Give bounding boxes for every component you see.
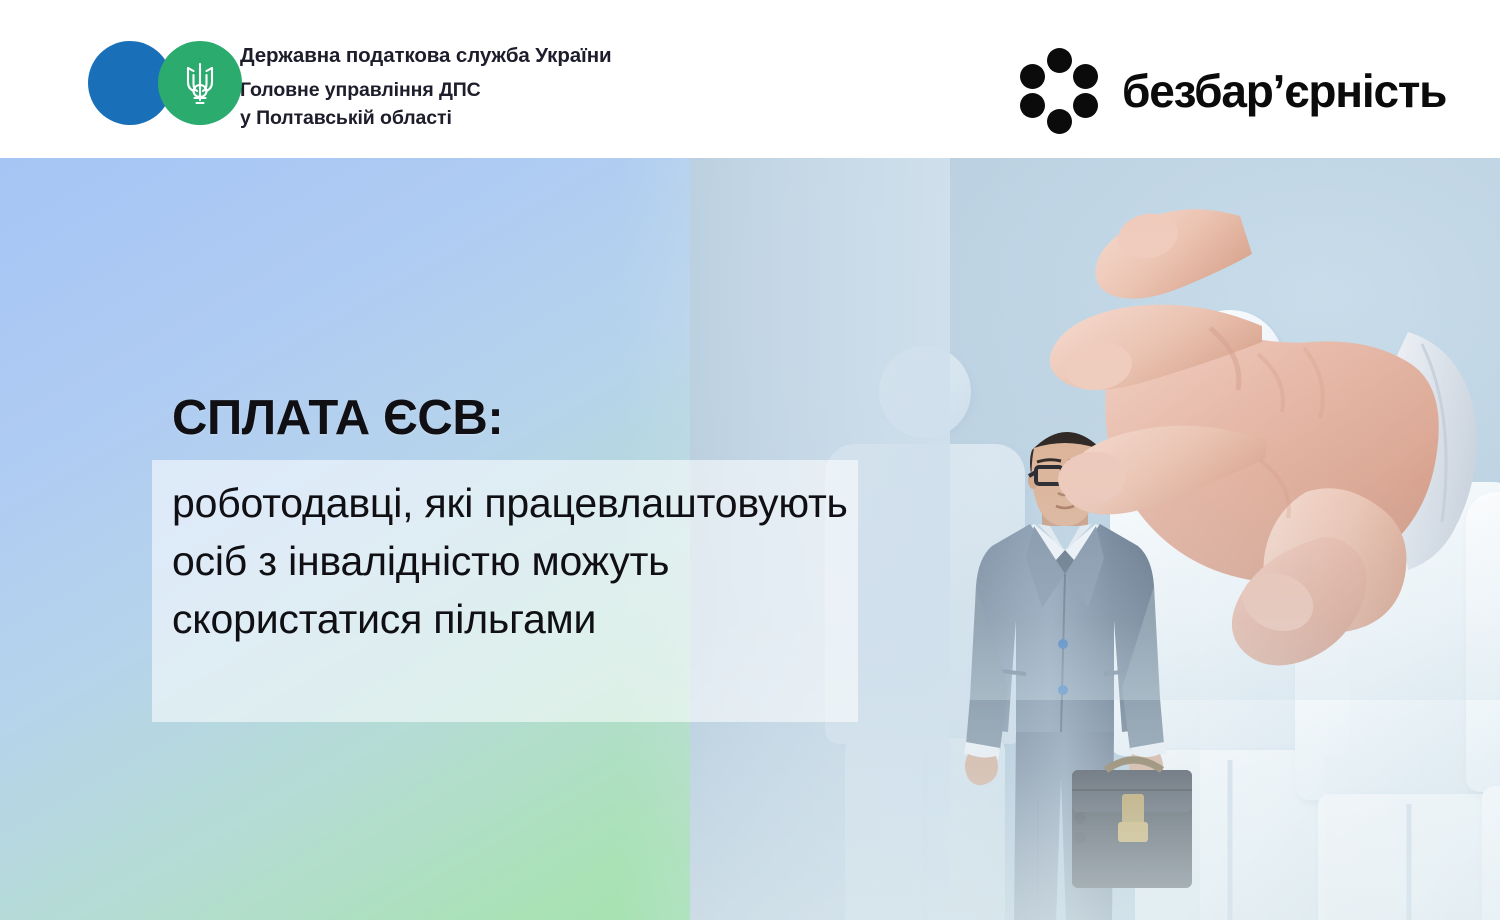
barrier-free-wordmark: безбар’єрність [1122, 68, 1446, 114]
trident-icon [180, 58, 220, 108]
six-dots-ring-icon [1016, 48, 1102, 134]
giant-hand-icon [910, 158, 1500, 700]
dps-title-block: Державна податкова служба України Головн… [240, 42, 612, 132]
dps-logo [88, 41, 242, 125]
page-header: Державна податкова служба України Головн… [0, 0, 1500, 158]
dps-title-line-3: у Полтавській області [240, 104, 612, 132]
hero-banner: СПЛАТА ЄСВ: роботодавці, які працевлашто… [0, 158, 1500, 920]
page-subtitle: роботодавці, які працевлаштовують осіб з… [172, 474, 862, 648]
dps-title-line-1: Державна податкова служба України [240, 42, 612, 70]
page-title: СПЛАТА ЄСВ: [172, 394, 503, 443]
barrier-free-logo: безбар’єрність [1016, 48, 1446, 134]
dps-title-line-2: Головне управління ДПС [240, 76, 612, 104]
ukraine-trident-circle-icon [158, 41, 242, 125]
